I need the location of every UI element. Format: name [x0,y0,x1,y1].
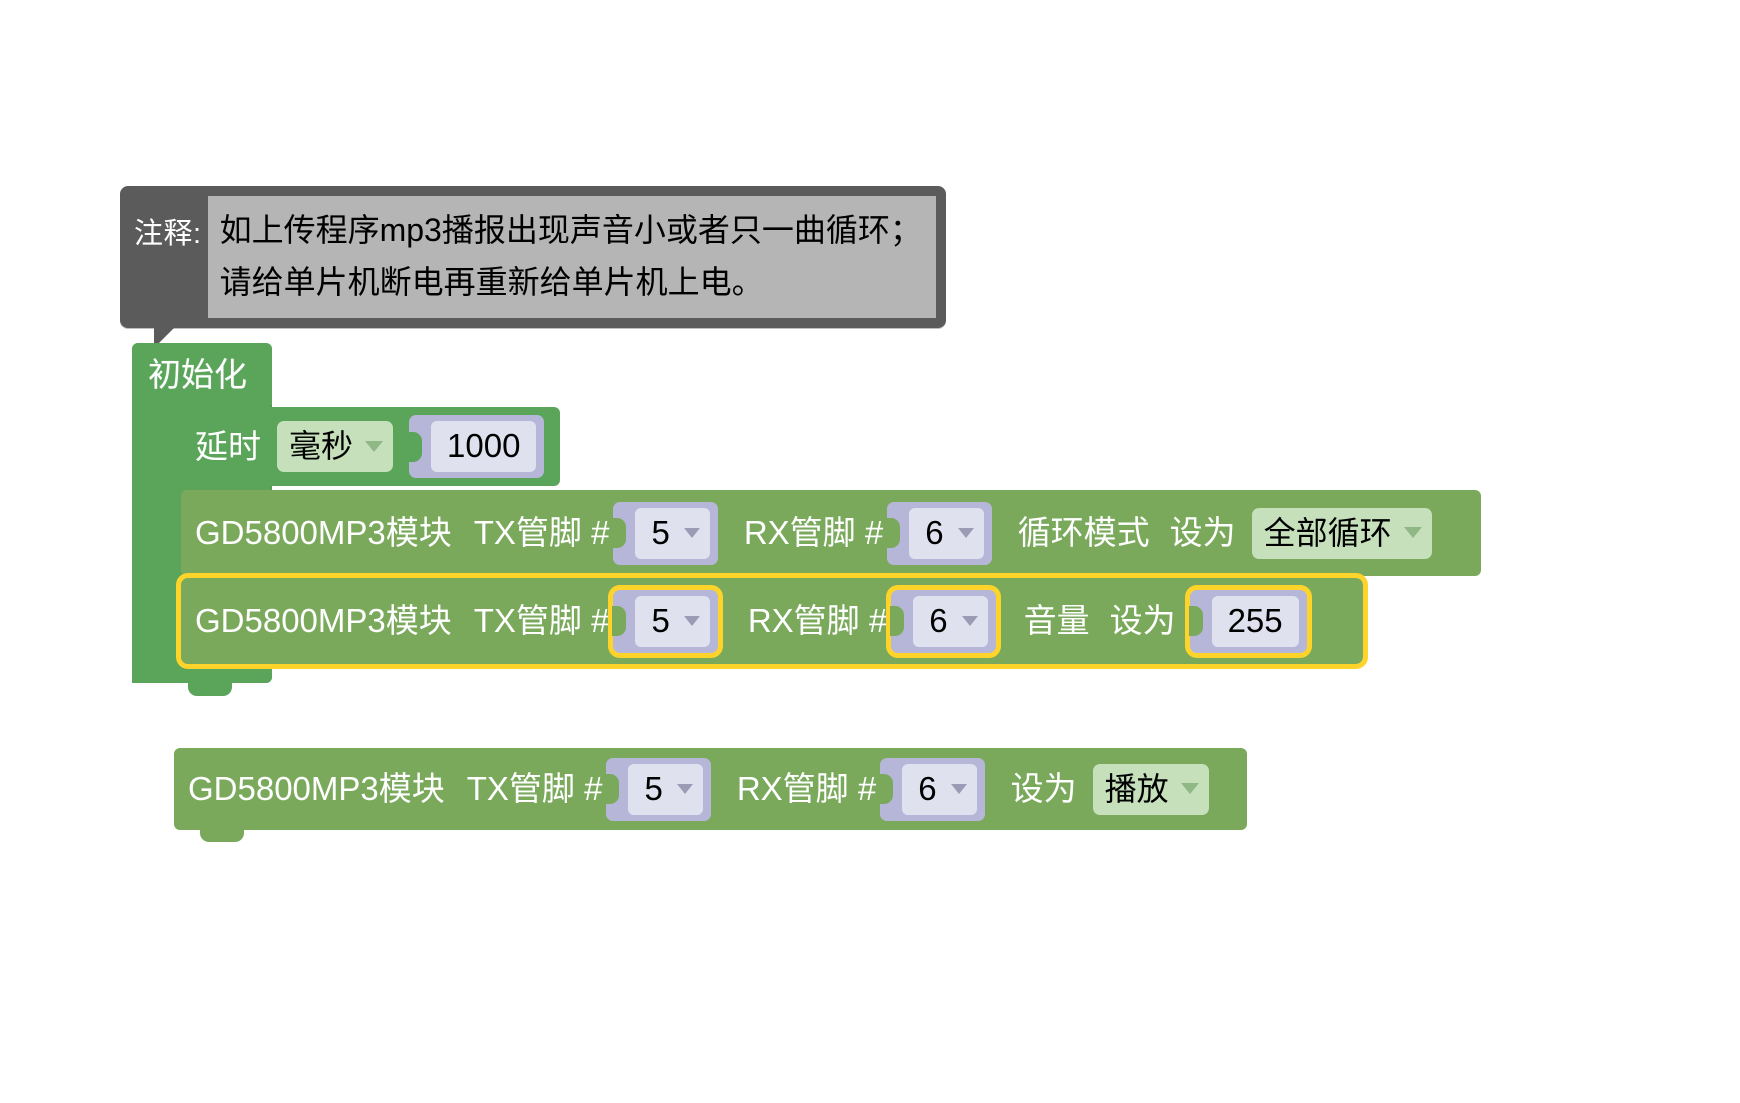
comment-balloon[interactable]: 注释: 如上传程序mp3播报出现声音小或者只一曲循环； 请给单片机断电再重新给单… [120,186,946,328]
chevron-down-icon [958,528,974,538]
loop-mode-tx-label: TX管脚 # [474,513,610,553]
loop-mode-rx-field[interactable]: 6 [909,508,983,559]
play-rx-value: 6 [918,766,936,812]
delay-unit-dropdown[interactable]: 毫秒 [277,421,393,472]
chevron-down-icon [1404,527,1422,538]
volume-value-field[interactable]: 255 [1212,596,1299,647]
volume-notch-top [207,578,251,590]
slot-plug-icon [879,774,893,804]
chevron-down-icon [677,784,693,794]
play-rx-slot[interactable]: 6 [880,758,984,821]
volume-tx-value: 5 [651,598,669,644]
volume-rx-field[interactable]: 6 [913,596,987,647]
slot-plug-icon [890,606,904,636]
slot-plug-icon [605,774,619,804]
play-module-label: GD5800MP3模块 [188,769,445,809]
comment-notch [140,186,184,199]
play-tx-label: TX管脚 # [467,769,603,809]
chevron-down-icon [1181,783,1199,794]
loop-mode-rx-slot[interactable]: 6 [887,502,991,565]
play-notch-top [200,748,244,760]
play-block[interactable]: GD5800MP3模块 TX管脚 # 5 RX管脚 # 6 设为 播放 [174,748,1247,830]
init-hat-label: 初始化 [148,355,247,395]
slot-plug-icon [1189,606,1203,636]
chevron-down-icon [365,441,383,452]
delay-label: 延时 [195,427,261,467]
loop-mode-value: 全部循环 [1264,512,1392,554]
slot-plug-icon [612,606,626,636]
delay-value-slot[interactable]: 1000 [409,415,544,478]
volume-rx-value: 6 [929,598,947,644]
play-value-dropdown[interactable]: 播放 [1093,764,1209,815]
volume-rx-label: RX管脚 # [748,601,887,641]
loop-mode-value-dropdown[interactable]: 全部循环 [1252,508,1432,559]
blockly-workspace[interactable]: 注释: 如上传程序mp3播报出现声音小或者只一曲循环； 请给单片机断电再重新给单… [0,0,1740,1103]
comment-line-1: 如上传程序mp3播报出现声音小或者只一曲循环； [220,204,926,256]
volume-value-slot[interactable]: 255 [1190,590,1307,653]
volume-module-label: GD5800MP3模块 [195,601,452,641]
loop-mode-rx-value: 6 [925,510,943,556]
volume-tx-field[interactable]: 5 [635,596,709,647]
play-set-label: 设为 [1011,769,1077,809]
loop-mode-rx-label: RX管脚 # [744,513,883,553]
comment-frame[interactable]: 注释: 如上传程序mp3播报出现声音小或者只一曲循环； 请给单片机断电再重新给单… [120,186,946,328]
loop-mode-tx-field[interactable]: 5 [635,508,709,559]
play-tx-slot[interactable]: 5 [606,758,710,821]
play-rx-field[interactable]: 6 [902,764,976,815]
volume-prop-label: 音量 [1024,601,1090,641]
chevron-down-icon [684,616,700,626]
play-rx-label: RX管脚 # [737,769,876,809]
volume-set-label: 设为 [1110,601,1176,641]
chevron-down-icon [684,528,700,538]
play-value: 播放 [1105,768,1169,810]
play-notch-bottom [200,830,244,842]
loop-mode-tx-slot[interactable]: 5 [613,502,717,565]
slot-plug-icon [886,518,900,548]
volume-rx-slot[interactable]: 6 [891,590,995,653]
chevron-down-icon [951,784,967,794]
volume-tx-label: TX管脚 # [474,601,610,641]
loop-mode-set-label: 设为 [1170,513,1236,553]
delay-unit-value: 毫秒 [289,425,353,467]
comment-label: 注释: [134,196,204,254]
loop-mode-notch-top [207,490,251,502]
loop-mode-block[interactable]: GD5800MP3模块 TX管脚 # 5 RX管脚 # 6 循环模式 设为 全部… [181,490,1481,576]
loop-mode-module-label: GD5800MP3模块 [195,513,452,553]
init-hat-connector-notch [188,405,232,417]
comment-text-area[interactable]: 如上传程序mp3播报出现声音小或者只一曲循环； 请给单片机断电再重新给单片机上电… [208,196,936,318]
slot-plug-icon [612,518,626,548]
loop-mode-tx-value: 5 [651,510,669,556]
loop-mode-prop-label: 循环模式 [1018,513,1150,553]
chevron-down-icon [962,616,978,626]
init-hat-bottom-notch [188,683,232,696]
slot-plug-icon [408,432,422,462]
volume-block[interactable]: GD5800MP3模块 TX管脚 # 5 RX管脚 # 6 音量 设为 255 [181,578,1363,664]
comment-line-2: 请给单片机断电再重新给单片机上电。 [220,256,926,308]
play-tx-field[interactable]: 5 [628,764,702,815]
play-tx-value: 5 [644,766,662,812]
volume-tx-slot[interactable]: 5 [613,590,717,653]
delay-value-field[interactable]: 1000 [431,421,536,472]
delay-block[interactable]: 延时 毫秒 1000 [181,407,560,486]
